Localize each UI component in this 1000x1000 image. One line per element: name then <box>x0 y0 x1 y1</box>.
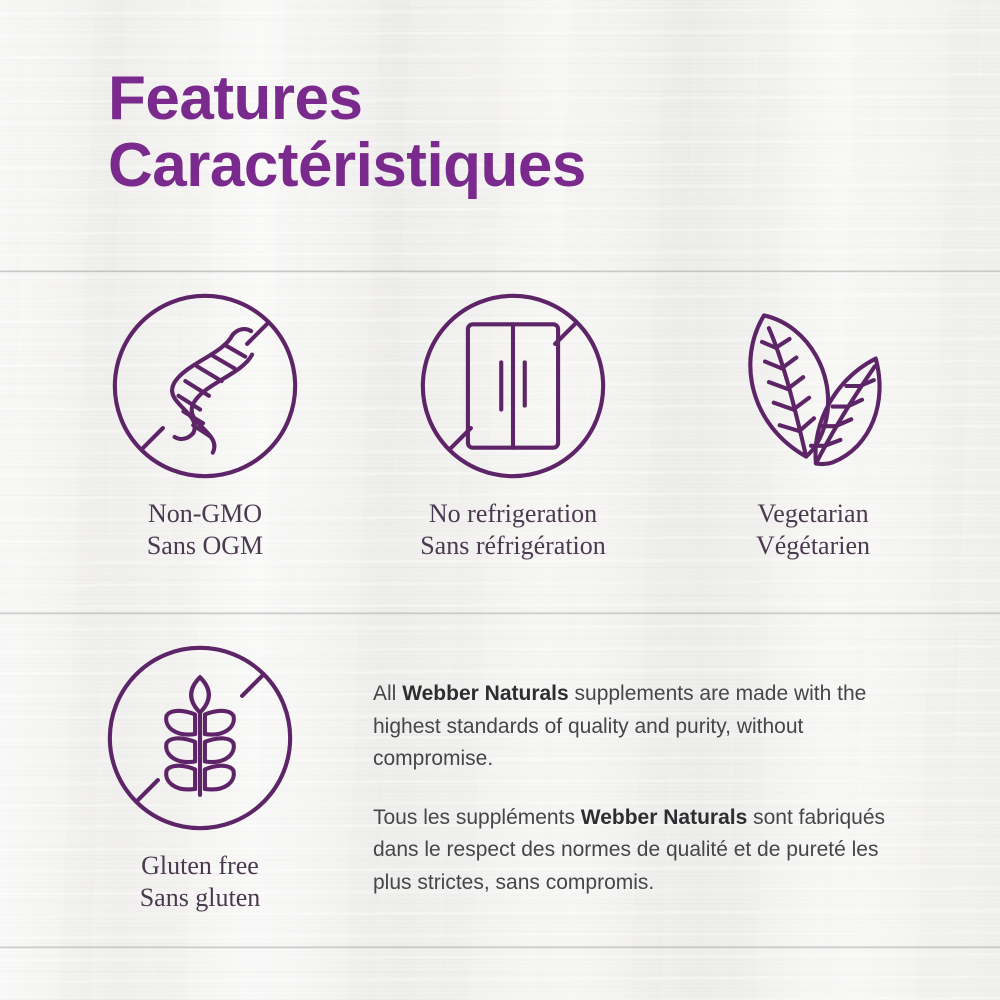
feature-panel: Features Caractéristiques <box>0 0 1000 1000</box>
refrigerator-no-icon <box>415 288 611 484</box>
quality-statement: All Webber Naturals supplements are made… <box>373 678 918 899</box>
feature-vegetarian-icon-wrap <box>668 288 958 484</box>
feature-gluten-free-label-en: Gluten free <box>141 851 259 880</box>
brand-name-fr: Webber Naturals <box>581 806 748 829</box>
quality-statement-en: All Webber Naturals supplements are made… <box>373 678 918 776</box>
page-title-fr: Caractéristiques <box>108 133 586 200</box>
feature-gluten-free-label-fr: Sans gluten <box>55 882 345 914</box>
feature-gluten-free: Gluten free Sans gluten <box>55 640 345 913</box>
dna-no-icon <box>107 288 303 484</box>
page-title-en: Features <box>108 64 362 133</box>
quality-statement-fr: Tous les suppléments Webber Naturals son… <box>373 802 918 900</box>
feature-no-refrigeration-label-en: No refrigeration <box>429 499 597 528</box>
feature-vegetarian-caption: Vegetarian Végétarien <box>668 498 958 561</box>
wheat-no-icon <box>102 640 298 836</box>
feature-non-gmo-label-en: Non-GMO <box>148 499 262 528</box>
feature-non-gmo-label-fr: Sans OGM <box>60 530 350 562</box>
feature-no-refrigeration-icon-wrap <box>368 288 658 484</box>
feature-no-refrigeration-label-fr: Sans réfrigération <box>368 530 658 562</box>
plank-divider-2 <box>0 612 1000 615</box>
feature-gluten-free-icon-wrap <box>55 640 345 836</box>
plank-divider-3 <box>0 946 1000 949</box>
feature-vegetarian: Vegetarian Végétarien <box>668 288 958 561</box>
feature-no-refrigeration: No refrigeration Sans réfrigération <box>368 288 658 561</box>
quality-statement-fr-before: Tous les suppléments <box>373 806 581 829</box>
feature-non-gmo-caption: Non-GMO Sans OGM <box>60 498 350 561</box>
feature-vegetarian-label-fr: Végétarien <box>668 530 958 562</box>
feature-no-refrigeration-caption: No refrigeration Sans réfrigération <box>368 498 658 561</box>
feature-gluten-free-caption: Gluten free Sans gluten <box>55 850 345 913</box>
feature-non-gmo: Non-GMO Sans OGM <box>60 288 350 561</box>
plank-divider-1 <box>0 270 1000 273</box>
page-title: Features Caractéristiques <box>108 66 586 200</box>
feature-non-gmo-icon-wrap <box>60 288 350 484</box>
brand-name-en: Webber Naturals <box>402 682 569 705</box>
leaves-icon <box>715 288 911 484</box>
feature-vegetarian-label-en: Vegetarian <box>757 499 868 528</box>
quality-statement-en-before: All <box>373 682 402 705</box>
